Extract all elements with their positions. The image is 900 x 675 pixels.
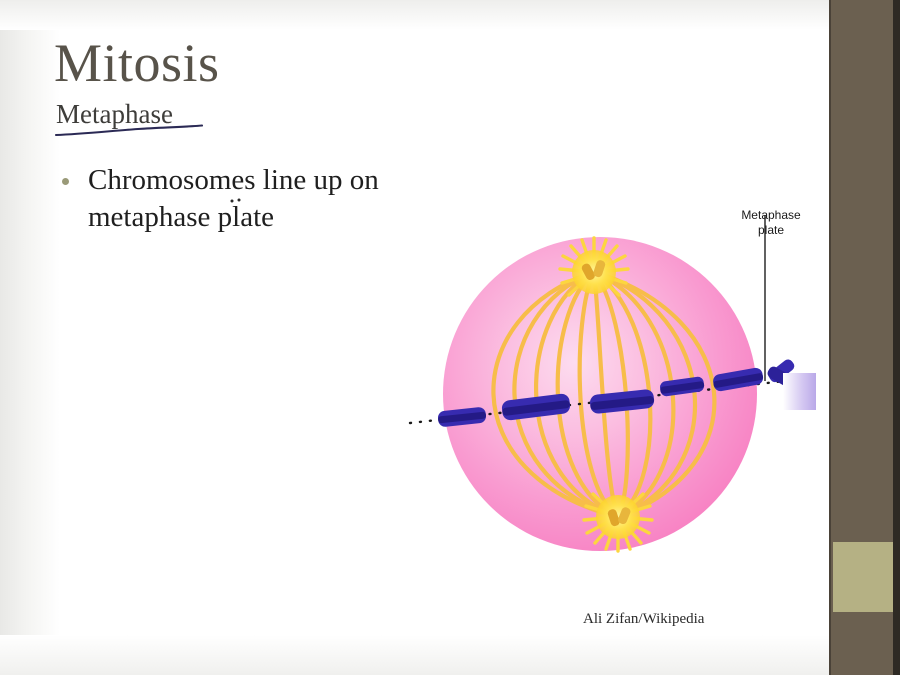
- callout-label-line-1: Metaphase: [734, 208, 808, 223]
- purple-swatch: [783, 373, 816, 410]
- bullet-marker-icon: [62, 178, 69, 185]
- sidebar-right-edge: [893, 0, 900, 675]
- slide-title: Mitosis: [54, 35, 220, 92]
- slide-canvas: Mitosis Metaphase Chromosomes line up on…: [0, 0, 900, 675]
- background-gradient-bottom: [0, 635, 900, 675]
- sidebar-accent-block: [833, 542, 893, 612]
- background-gradient-top: [0, 0, 900, 30]
- background-gradient-left: [0, 0, 60, 675]
- slide-subtitle: Metaphase: [56, 100, 173, 128]
- metaphase-plate-callout-label: Metaphase plate: [734, 208, 808, 238]
- image-credit: Ali Zifan/Wikipedia: [583, 611, 704, 628]
- metaphase-cell-diagram: [400, 195, 830, 575]
- callout-label-line-2: plate: [734, 223, 808, 238]
